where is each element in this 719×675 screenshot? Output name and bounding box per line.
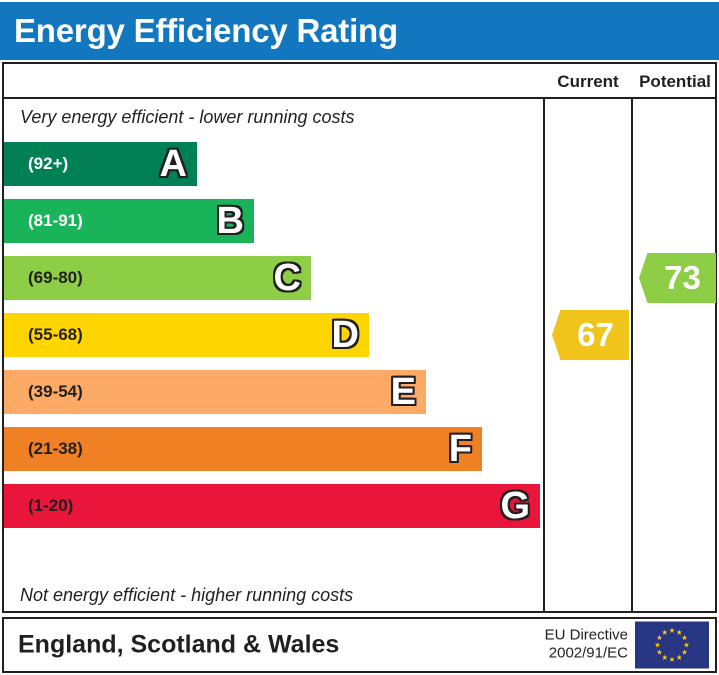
energy-efficiency-rating-chart: Energy Efficiency Rating Current Potenti… — [0, 0, 719, 675]
band-range-c: (69-80) — [28, 268, 83, 288]
band-bar-d: (55-68)D — [4, 313, 369, 357]
band-letter-g: G — [500, 487, 530, 525]
rating-marker-potential: 73 — [639, 253, 716, 303]
page-title: Energy Efficiency Rating — [14, 12, 398, 50]
chart-body: Current Potential Very energy efficient … — [2, 62, 717, 613]
eu-directive-line1: EU Directive — [545, 627, 628, 645]
eu-directive-line2: 2002/91/EC — [545, 645, 628, 663]
band-letter-f: F — [449, 430, 472, 468]
band-bar-g: (1-20)G — [4, 484, 540, 528]
column-header-row: Current Potential — [4, 64, 715, 99]
column-divider-right — [631, 99, 633, 611]
column-divider-left — [543, 99, 545, 611]
band-bars: (92+)A(81-91)B(69-80)C(55-68)D(39-54)E(2… — [4, 137, 543, 577]
rating-value-current: 67 — [577, 316, 614, 354]
band-range-a: (92+) — [28, 154, 68, 174]
eu-flag-icon — [635, 622, 709, 669]
band-bar-c: (69-80)C — [4, 256, 311, 300]
band-bar-a: (92+)A — [4, 142, 197, 186]
caption-inefficient: Not energy efficient - higher running co… — [4, 577, 543, 613]
footer-region-label: England, Scotland & Wales — [18, 631, 339, 660]
band-bar-e: (39-54)E — [4, 370, 426, 414]
band-range-e: (39-54) — [28, 382, 83, 402]
column-header-current: Current — [545, 64, 631, 99]
band-range-b: (81-91) — [28, 211, 83, 231]
eu-directive-text: EU Directive 2002/91/EC — [545, 627, 628, 664]
band-range-d: (55-68) — [28, 325, 83, 345]
band-bar-f: (21-38)F — [4, 427, 482, 471]
band-bar-b: (81-91)B — [4, 199, 254, 243]
rating-value-potential: 73 — [664, 259, 701, 297]
band-range-f: (21-38) — [28, 439, 83, 459]
rating-marker-current: 67 — [552, 310, 629, 360]
caption-efficient: Very energy efficient - lower running co… — [4, 99, 543, 135]
band-letter-d: D — [332, 316, 359, 354]
column-header-potential: Potential — [633, 64, 717, 99]
band-letter-c: C — [274, 259, 301, 297]
band-letter-e: E — [391, 373, 416, 411]
footer-bar: England, Scotland & Wales EU Directive 2… — [2, 617, 717, 673]
band-letter-b: B — [217, 202, 244, 240]
band-letter-a: A — [160, 145, 187, 183]
title-bar: Energy Efficiency Rating — [0, 2, 719, 60]
band-range-g: (1-20) — [28, 496, 73, 516]
